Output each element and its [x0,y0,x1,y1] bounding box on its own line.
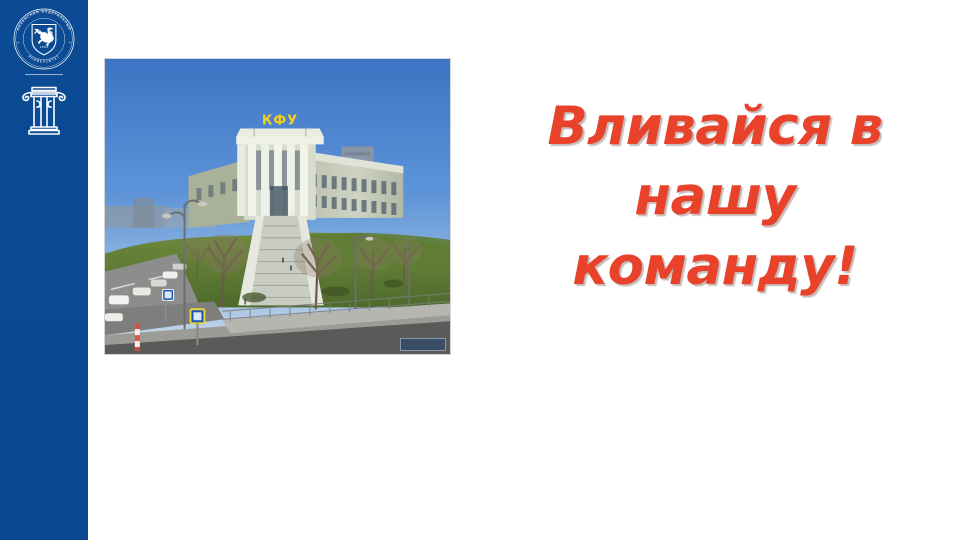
university-seal-icon: КАЗАНСКИЙ ФЕДЕРАЛЬНЫЙ УНИВЕРСИТЕТ [11,6,77,72]
svg-text:1804: 1804 [40,45,49,49]
ionic-column-icon [19,84,69,136]
kfu-law-faculty-building-photo: КФУ [104,58,451,355]
photo-watermark [400,338,446,351]
slide: КАЗАНСКИЙ ФЕДЕРАЛЬНЫЙ УНИВЕРСИТЕТ [0,0,960,540]
sidebar-divider [25,74,63,75]
svg-text:КФУ: КФУ [262,114,298,129]
photo-scene: КФУ [105,59,450,354]
brand-sidebar: КАЗАНСКИЙ ФЕДЕРАЛЬНЫЙ УНИВЕРСИТЕТ [0,0,88,540]
page-title: Вливайся в нашу команду! [490,92,940,302]
svg-text:УНИВЕРСИТЕТ: УНИВЕРСИТЕТ [27,54,60,64]
